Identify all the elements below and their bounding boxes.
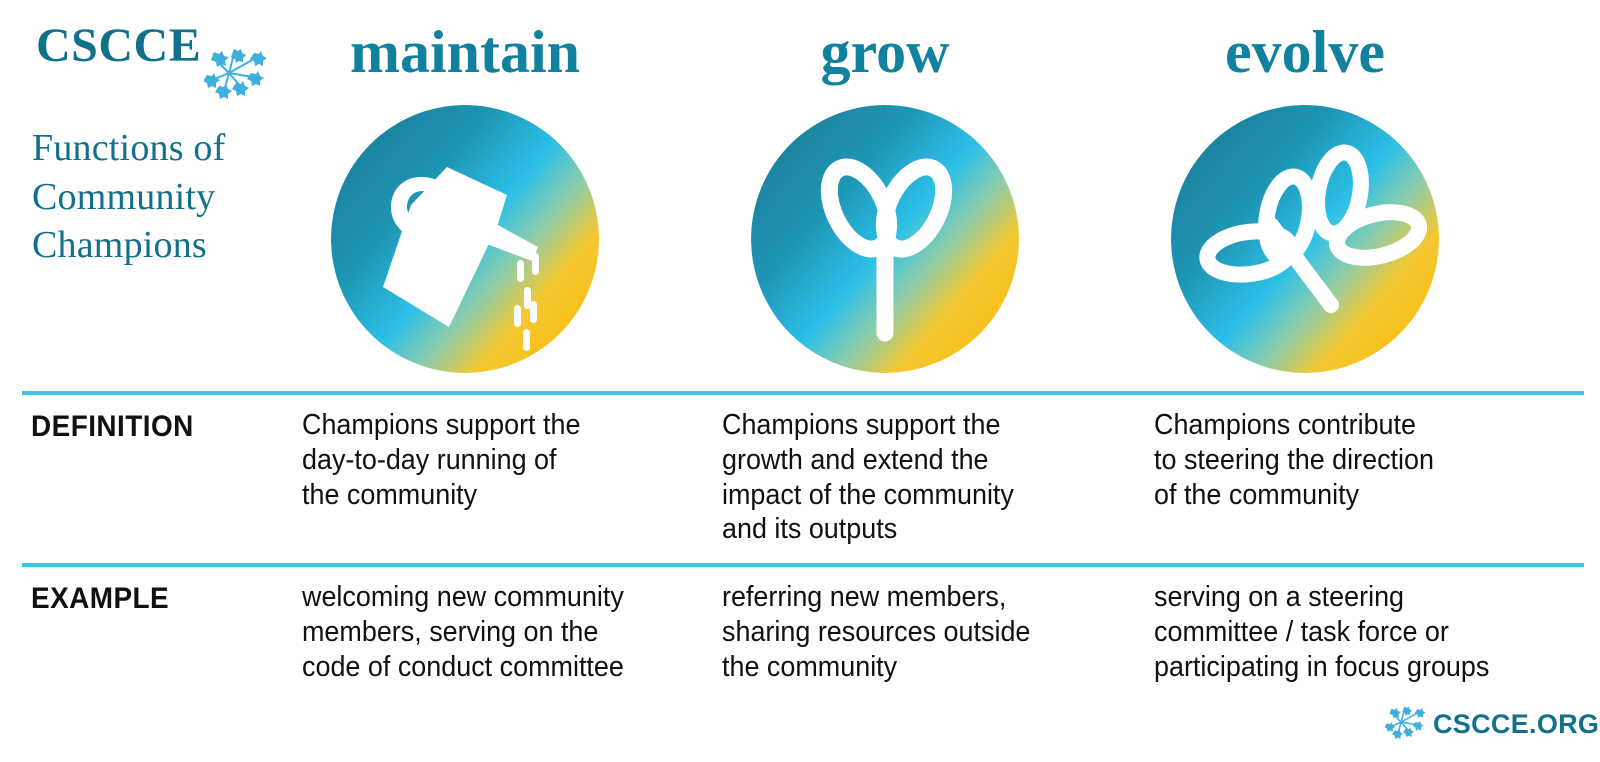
page-title: Functions of Community Champions — [32, 124, 282, 270]
example-line: referring new members, — [722, 580, 1030, 615]
definition-cell-maintain: Champions support the day-to-day running… — [302, 408, 580, 512]
cscce-wordmark: CSCCE — [36, 22, 201, 70]
example-line: participating in focus groups — [1154, 650, 1489, 685]
definition-line: Champions contribute — [1154, 408, 1434, 443]
network-nodes-icon — [204, 48, 266, 100]
branching-plant-icon — [1171, 105, 1439, 373]
example-cell-grow: referring new members, sharing resources… — [722, 580, 1030, 684]
example-line: welcoming new community — [302, 580, 624, 615]
definition-line: Champions support the — [302, 408, 580, 443]
example-line: serving on a steering — [1154, 580, 1489, 615]
divider-example-row — [22, 563, 1584, 567]
network-nodes-icon — [1385, 706, 1425, 742]
definition-line: growth and extend the — [722, 443, 1014, 478]
definition-line: of the community — [1154, 478, 1434, 513]
example-cell-evolve: serving on a steering committee / task f… — [1154, 580, 1489, 684]
example-line: members, serving on the — [302, 615, 624, 650]
definition-line: the community — [302, 478, 580, 513]
footer-url-label: CSCCE.ORG — [1433, 711, 1599, 738]
footer-branding: CSCCE.ORG — [1385, 703, 1599, 745]
example-line: committee / task force or — [1154, 615, 1489, 650]
column-heading-evolve: evolve — [1150, 22, 1460, 82]
page-title-line-2: Community — [32, 173, 282, 222]
example-line: code of conduct committee — [302, 650, 624, 685]
example-line: sharing resources outside — [722, 615, 1030, 650]
example-line: the community — [722, 650, 1030, 685]
example-cell-maintain: welcoming new community members, serving… — [302, 580, 624, 684]
definition-line: Champions support the — [722, 408, 1014, 443]
row-label-example: EXAMPLE — [31, 582, 169, 616]
definition-line: to steering the direction — [1154, 443, 1434, 478]
column-heading-maintain: maintain — [300, 22, 630, 82]
definition-line: impact of the community — [722, 478, 1014, 513]
definition-cell-evolve: Champions contribute to steering the dir… — [1154, 408, 1434, 512]
definition-cell-grow: Champions support the growth and extend … — [722, 408, 1014, 547]
watering-can-icon — [331, 105, 599, 373]
cscce-logo: CSCCE — [36, 22, 296, 94]
divider-definition-row — [22, 391, 1584, 395]
page-title-line-1: Functions of — [32, 124, 282, 173]
row-label-definition: DEFINITION — [31, 410, 194, 444]
page-title-line-3: Champions — [32, 221, 282, 270]
infographic-poster: CSCCE — [0, 0, 1600, 762]
definition-line: day-to-day running of — [302, 443, 580, 478]
definition-line: and its outputs — [722, 512, 1014, 547]
sprout-icon — [751, 105, 1019, 373]
column-heading-grow: grow — [730, 22, 1040, 82]
